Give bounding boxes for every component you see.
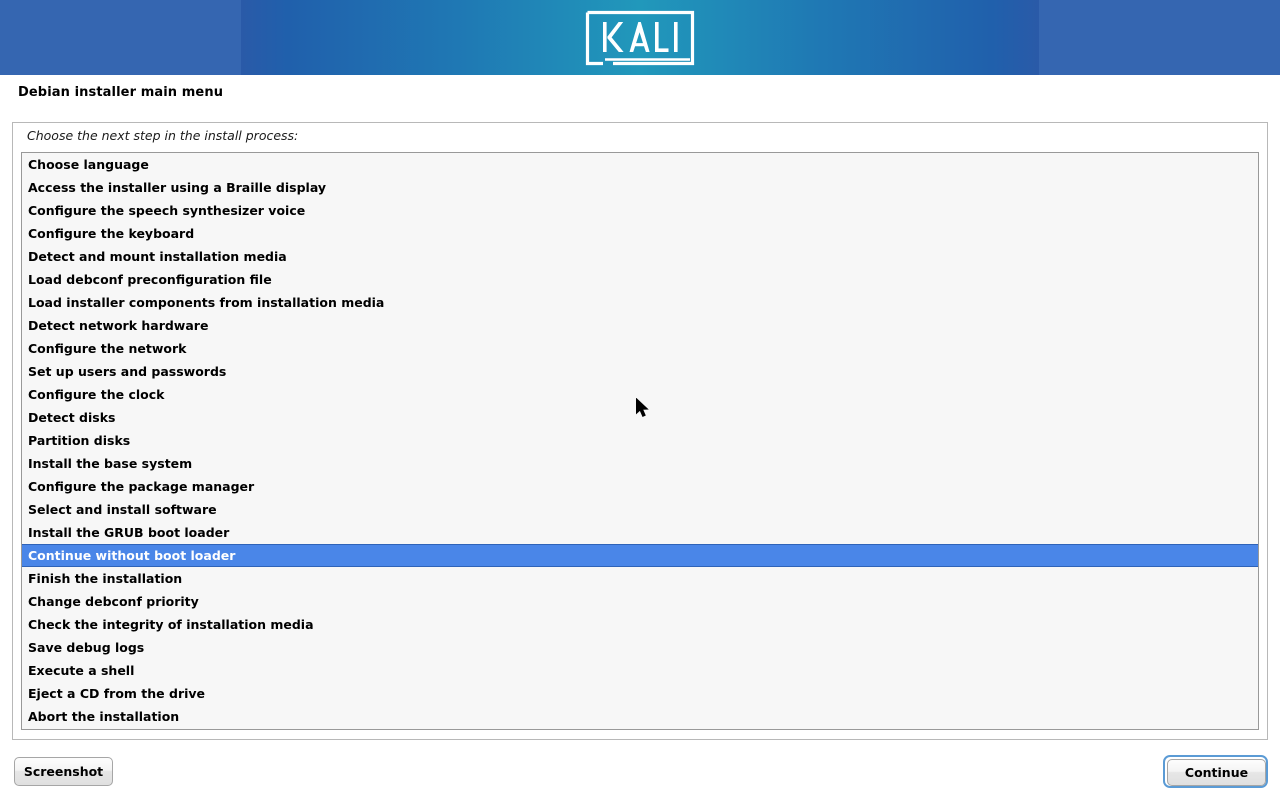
- installer-window: Debian installer main menu Choose the ne…: [0, 0, 1280, 800]
- menu-listbox[interactable]: Choose languageAccess the installer usin…: [21, 152, 1259, 730]
- prompt-label: Choose the next step in the install proc…: [27, 128, 298, 143]
- menu-item[interactable]: Configure the clock: [22, 383, 1258, 406]
- menu-item[interactable]: Finish the installation: [22, 567, 1258, 590]
- menu-item[interactable]: Install the GRUB boot loader: [22, 521, 1258, 544]
- menu-item[interactable]: Detect and mount installation media: [22, 245, 1258, 268]
- menu-item[interactable]: Configure the keyboard: [22, 222, 1258, 245]
- menu-item[interactable]: Choose language: [22, 153, 1258, 176]
- screenshot-button[interactable]: Screenshot: [14, 757, 113, 786]
- page-title: Debian installer main menu: [18, 85, 223, 100]
- menu-item[interactable]: Load installer components from installat…: [22, 291, 1258, 314]
- main-content-frame: Choose the next step in the install proc…: [12, 122, 1268, 740]
- menu-item[interactable]: Execute a shell: [22, 659, 1258, 682]
- banner-right-solid: [1039, 0, 1280, 75]
- menu-item[interactable]: Install the base system: [22, 452, 1258, 475]
- continue-button-focus-ring: Continue: [1163, 755, 1268, 788]
- kali-header-banner: [0, 0, 1280, 75]
- continue-button[interactable]: Continue: [1167, 759, 1266, 786]
- menu-item[interactable]: Eject a CD from the drive: [22, 682, 1258, 705]
- menu-item[interactable]: Access the installer using a Braille dis…: [22, 176, 1258, 199]
- menu-item[interactable]: Check the integrity of installation medi…: [22, 613, 1258, 636]
- menu-item[interactable]: Partition disks: [22, 429, 1258, 452]
- menu-item[interactable]: Configure the speech synthesizer voice: [22, 199, 1258, 222]
- menu-item[interactable]: Change debconf priority: [22, 590, 1258, 613]
- menu-item[interactable]: Save debug logs: [22, 636, 1258, 659]
- menu-item[interactable]: Continue without boot loader: [22, 544, 1258, 567]
- banner-left-solid: [0, 0, 241, 75]
- menu-item[interactable]: Detect disks: [22, 406, 1258, 429]
- menu-item[interactable]: Detect network hardware: [22, 314, 1258, 337]
- menu-item[interactable]: Configure the package manager: [22, 475, 1258, 498]
- menu-item[interactable]: Select and install software: [22, 498, 1258, 521]
- menu-item[interactable]: Load debconf preconfiguration file: [22, 268, 1258, 291]
- kali-logo-icon: [583, 8, 697, 68]
- menu-item[interactable]: Abort the installation: [22, 705, 1258, 728]
- menu-item[interactable]: Set up users and passwords: [22, 360, 1258, 383]
- menu-item[interactable]: Configure the network: [22, 337, 1258, 360]
